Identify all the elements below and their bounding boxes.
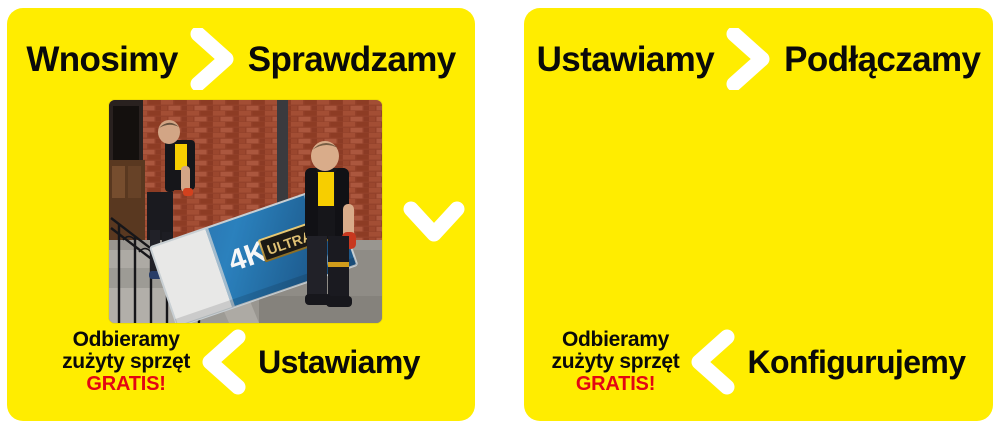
pickup-note: Odbieramy zużyty sprzęt GRATIS! [62, 329, 190, 395]
bottom-step-row: Odbieramy zużyty sprzęt GRATIS! Konfigur… [524, 321, 993, 403]
chevron-right-icon [722, 28, 776, 90]
step-label-ustawiamy: Ustawiamy [537, 42, 714, 77]
top-step-row: Wnosimy Sprawdzamy [7, 30, 475, 88]
chevron-left-icon [685, 329, 741, 395]
step-label-podlaczamy: Podłączamy [784, 42, 980, 77]
pickup-gratis-badge: GRATIS! [62, 374, 190, 395]
infographic-stage: Wnosimy Sprawdzamy [0, 0, 1000, 429]
chevron-down-icon [403, 201, 465, 245]
photo-tv-carry: 4K ULTRA HD [109, 100, 382, 323]
chevron-right-icon [186, 28, 240, 90]
pickup-line-2: zużyty sprzęt [62, 351, 190, 373]
pickup-gratis-badge: GRATIS! [552, 374, 680, 395]
pickup-note: Odbieramy zużyty sprzęt GRATIS! [552, 329, 680, 395]
pickup-line-1: Odbieramy [62, 329, 190, 351]
bottom-step-row: Odbieramy zużyty sprzęt GRATIS! Ustawiam… [7, 321, 475, 403]
delivery-steps-panel: Wnosimy Sprawdzamy [7, 8, 475, 421]
pickup-line-1: Odbieramy [552, 329, 680, 351]
chevron-left-icon [196, 329, 252, 395]
top-step-row: Ustawiamy Podłączamy [524, 30, 993, 88]
step-label-konfigurujemy: Konfigurujemy [747, 346, 965, 378]
step-label-wnosimy: Wnosimy [26, 42, 177, 77]
step-label-ustawiamy: Ustawiamy [258, 346, 420, 378]
pickup-line-2: zużyty sprzęt [552, 351, 680, 373]
installation-steps-panel: Ustawiamy Podłączamy [524, 8, 993, 421]
step-label-sprawdzamy: Sprawdzamy [248, 42, 456, 77]
